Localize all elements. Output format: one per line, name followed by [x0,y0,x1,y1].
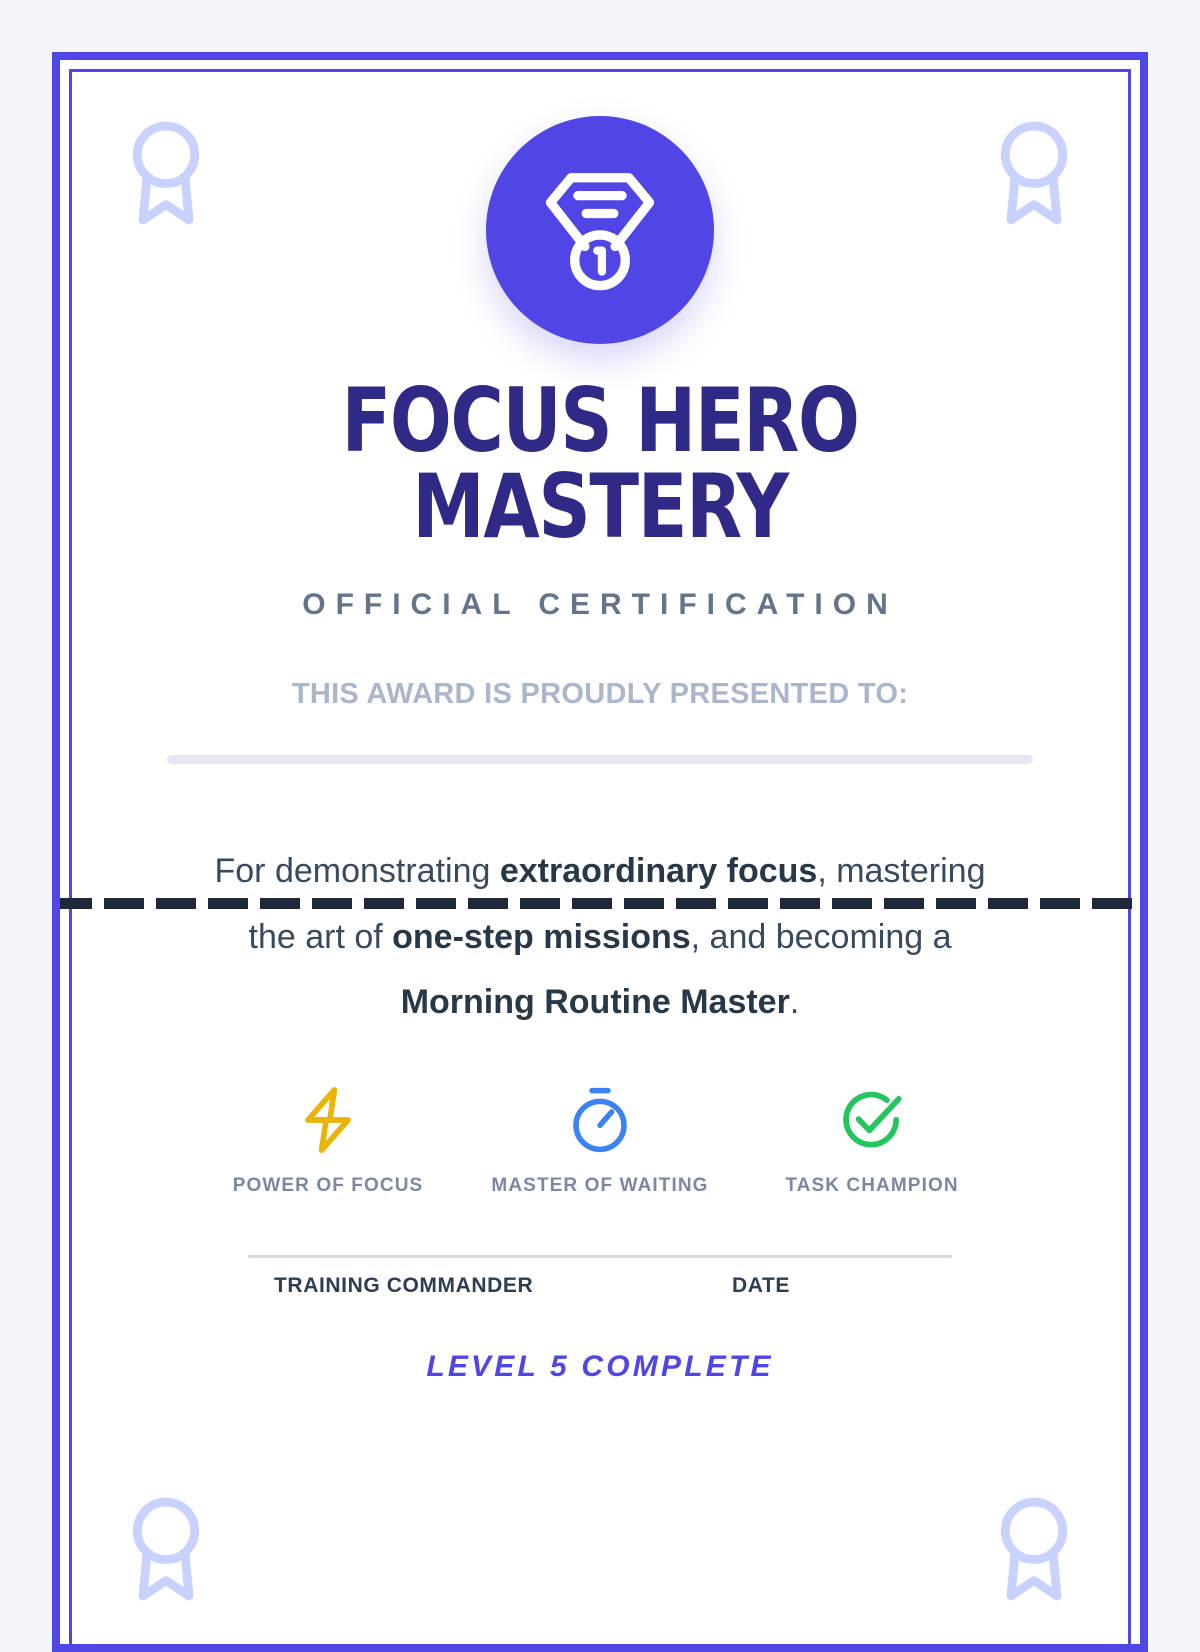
page-title: FOCUS HERO MASTERY [103,378,1097,550]
award-ribbon-icon [988,1492,1080,1604]
signature-block: TRAINING COMMANDER DATE [248,1255,952,1298]
date-label: DATE [732,1274,790,1298]
badge-master-of-waiting: MASTER OF WAITING [464,1081,736,1197]
citation-bold-routine: Morning Routine Master [401,983,790,1021]
certificate-card: FOCUS HERO MASTERY OFFICIAL CERTIFICATIO… [52,52,1148,1652]
citation-prefix: For demonstrating [215,852,500,890]
award-ribbon-icon [120,1492,212,1604]
title-line-2: MASTERY [103,464,1097,550]
certificate-body: For demonstrating extraordinary focus, m… [60,711,1140,1384]
citation-bold-focus: extraordinary focus [500,852,817,890]
citation-text: For demonstrating extraordinary focus, m… [205,839,995,1035]
signature-labels: TRAINING COMMANDER DATE [248,1274,952,1298]
medal-first-place-icon [534,164,666,296]
name-placeholder-bar [167,755,1033,764]
badge-label: MASTER OF WAITING [464,1175,736,1197]
training-commander-label: TRAINING COMMANDER [274,1274,533,1298]
badge-label: POWER OF FOCUS [192,1175,464,1197]
check-circle-icon [736,1081,1008,1159]
citation-bold-missions: one-step missions [392,918,691,956]
signature-rule [248,1255,952,1258]
citation-mid-2: , and becoming a [691,918,952,956]
badge-power-of-focus: POWER OF FOCUS [192,1081,464,1197]
stopwatch-icon [464,1081,736,1159]
certificate-subtitle: OFFICIAL CERTIFICATION [60,588,1140,622]
title-line-1: FOCUS HERO [103,378,1097,464]
level-complete-banner: LEVEL 5 COMPLETE [60,1350,1140,1384]
citation-suffix: . [790,983,799,1021]
presented-to-label: THIS AWARD IS PROUDLY PRESENTED TO: [60,678,1140,711]
lightning-bolt-icon [192,1081,464,1159]
badge-label: TASK CHAMPION [736,1175,1008,1197]
badge-task-champion: TASK CHAMPION [736,1081,1008,1197]
achievement-badges: POWER OF FOCUS MASTER OF WAITING [60,1081,1140,1197]
medal-badge-circle [486,116,714,344]
certificate-header: FOCUS HERO MASTERY OFFICIAL CERTIFICATIO… [60,60,1140,711]
